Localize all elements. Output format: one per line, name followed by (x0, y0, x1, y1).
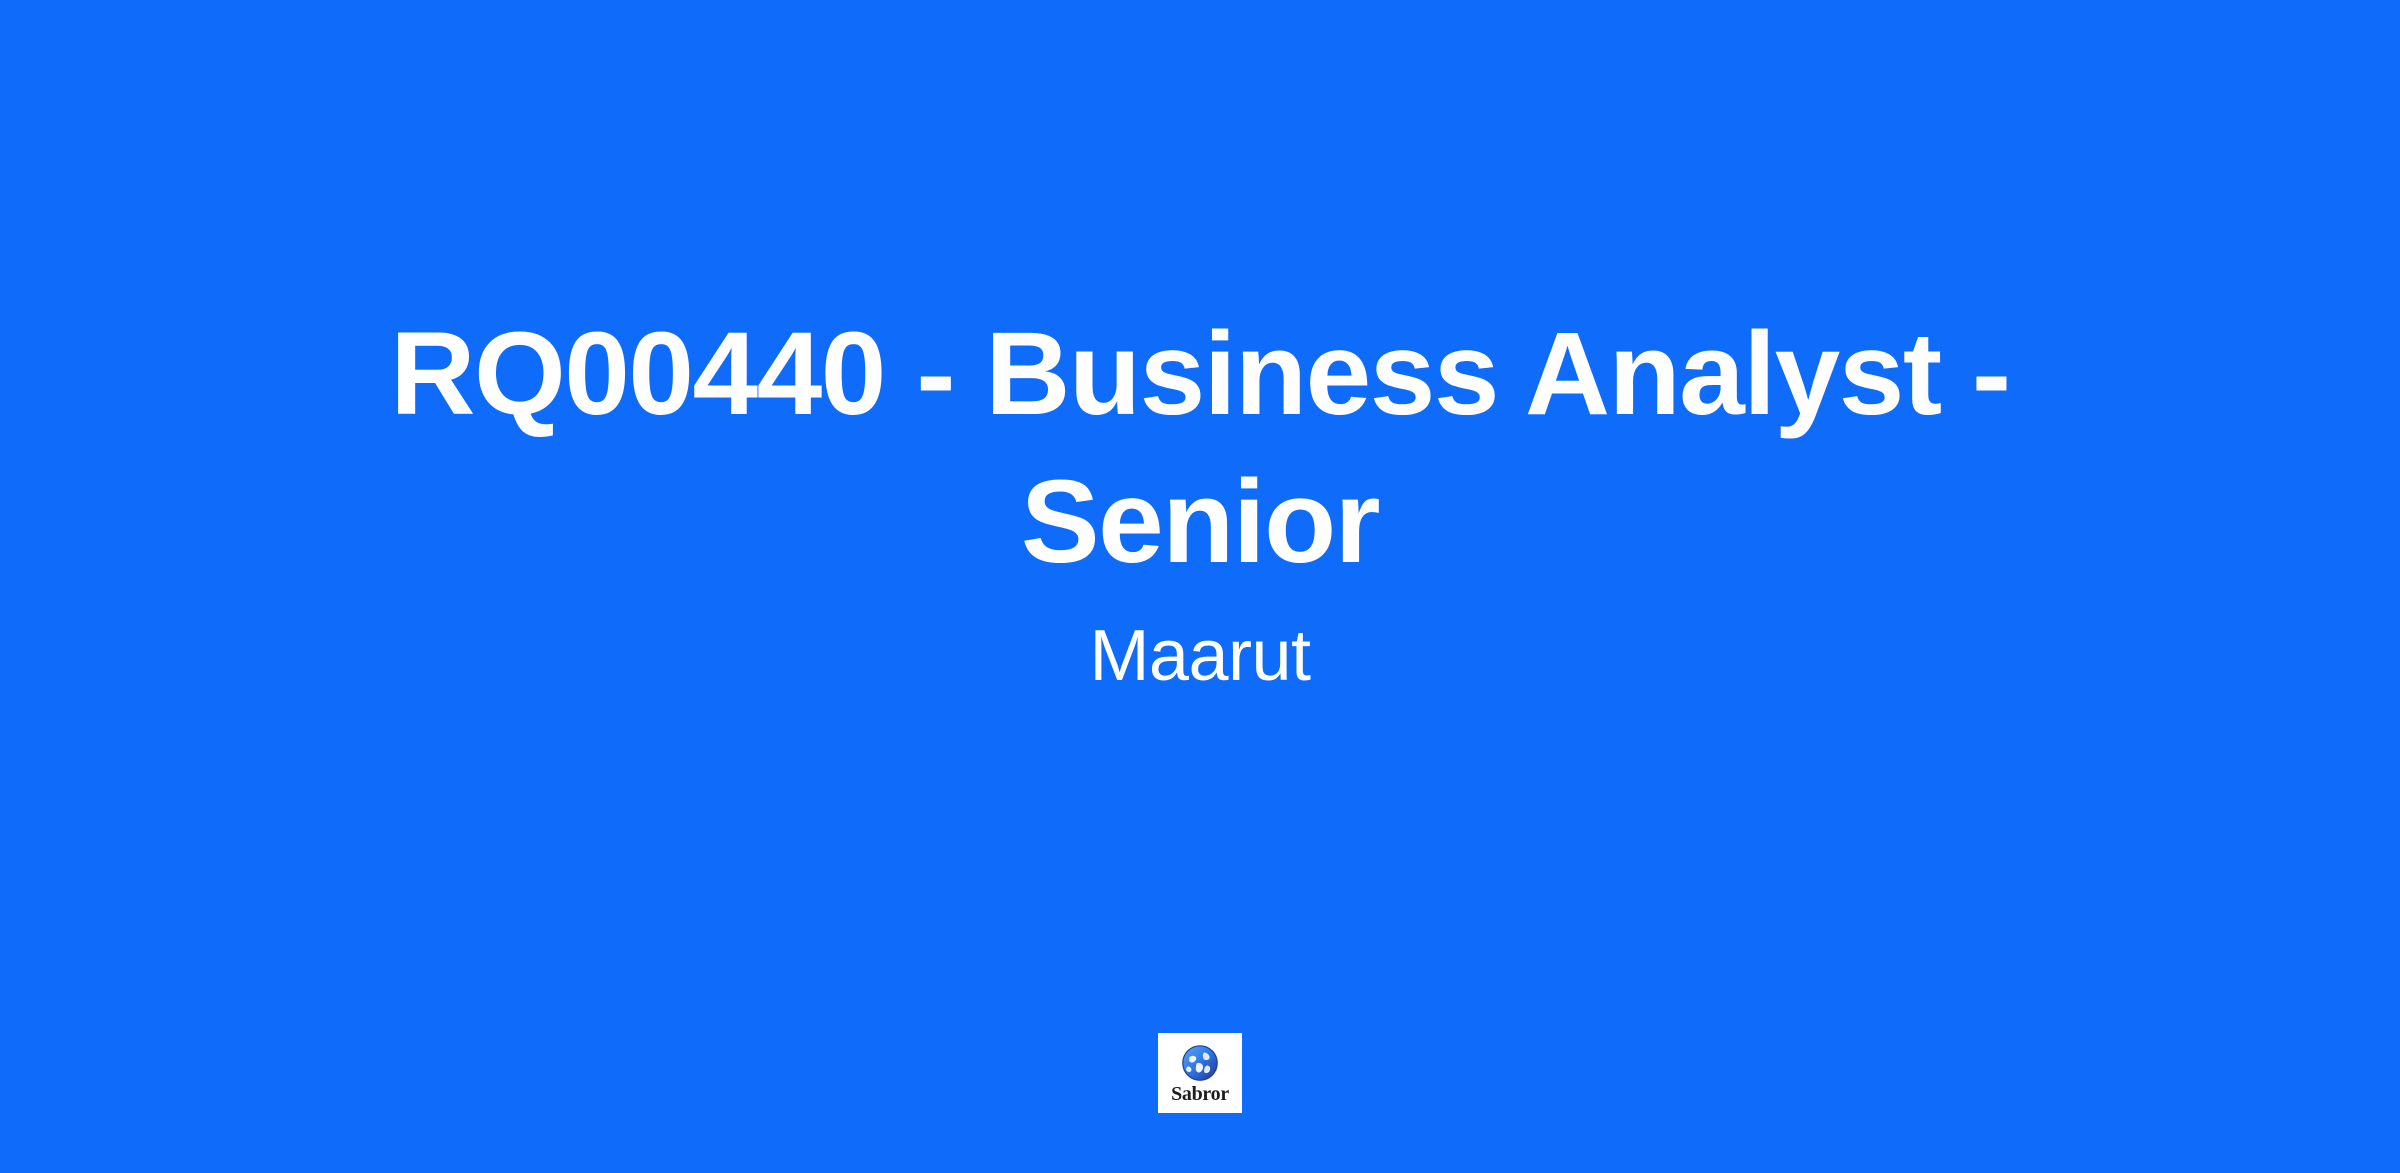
globe-icon (1181, 1044, 1219, 1082)
brand-logo: Sabror (1158, 1033, 1242, 1113)
title-slide: RQ00440 - Business Analyst - Senior Maar… (0, 0, 2400, 1173)
brand-wordmark: Sabror (1171, 1083, 1229, 1105)
page-title: RQ00440 - Business Analyst - Senior (350, 300, 2050, 596)
page-subtitle: Maarut (1089, 614, 1310, 698)
hero-text-block: RQ00440 - Business Analyst - Senior Maar… (0, 300, 2400, 698)
